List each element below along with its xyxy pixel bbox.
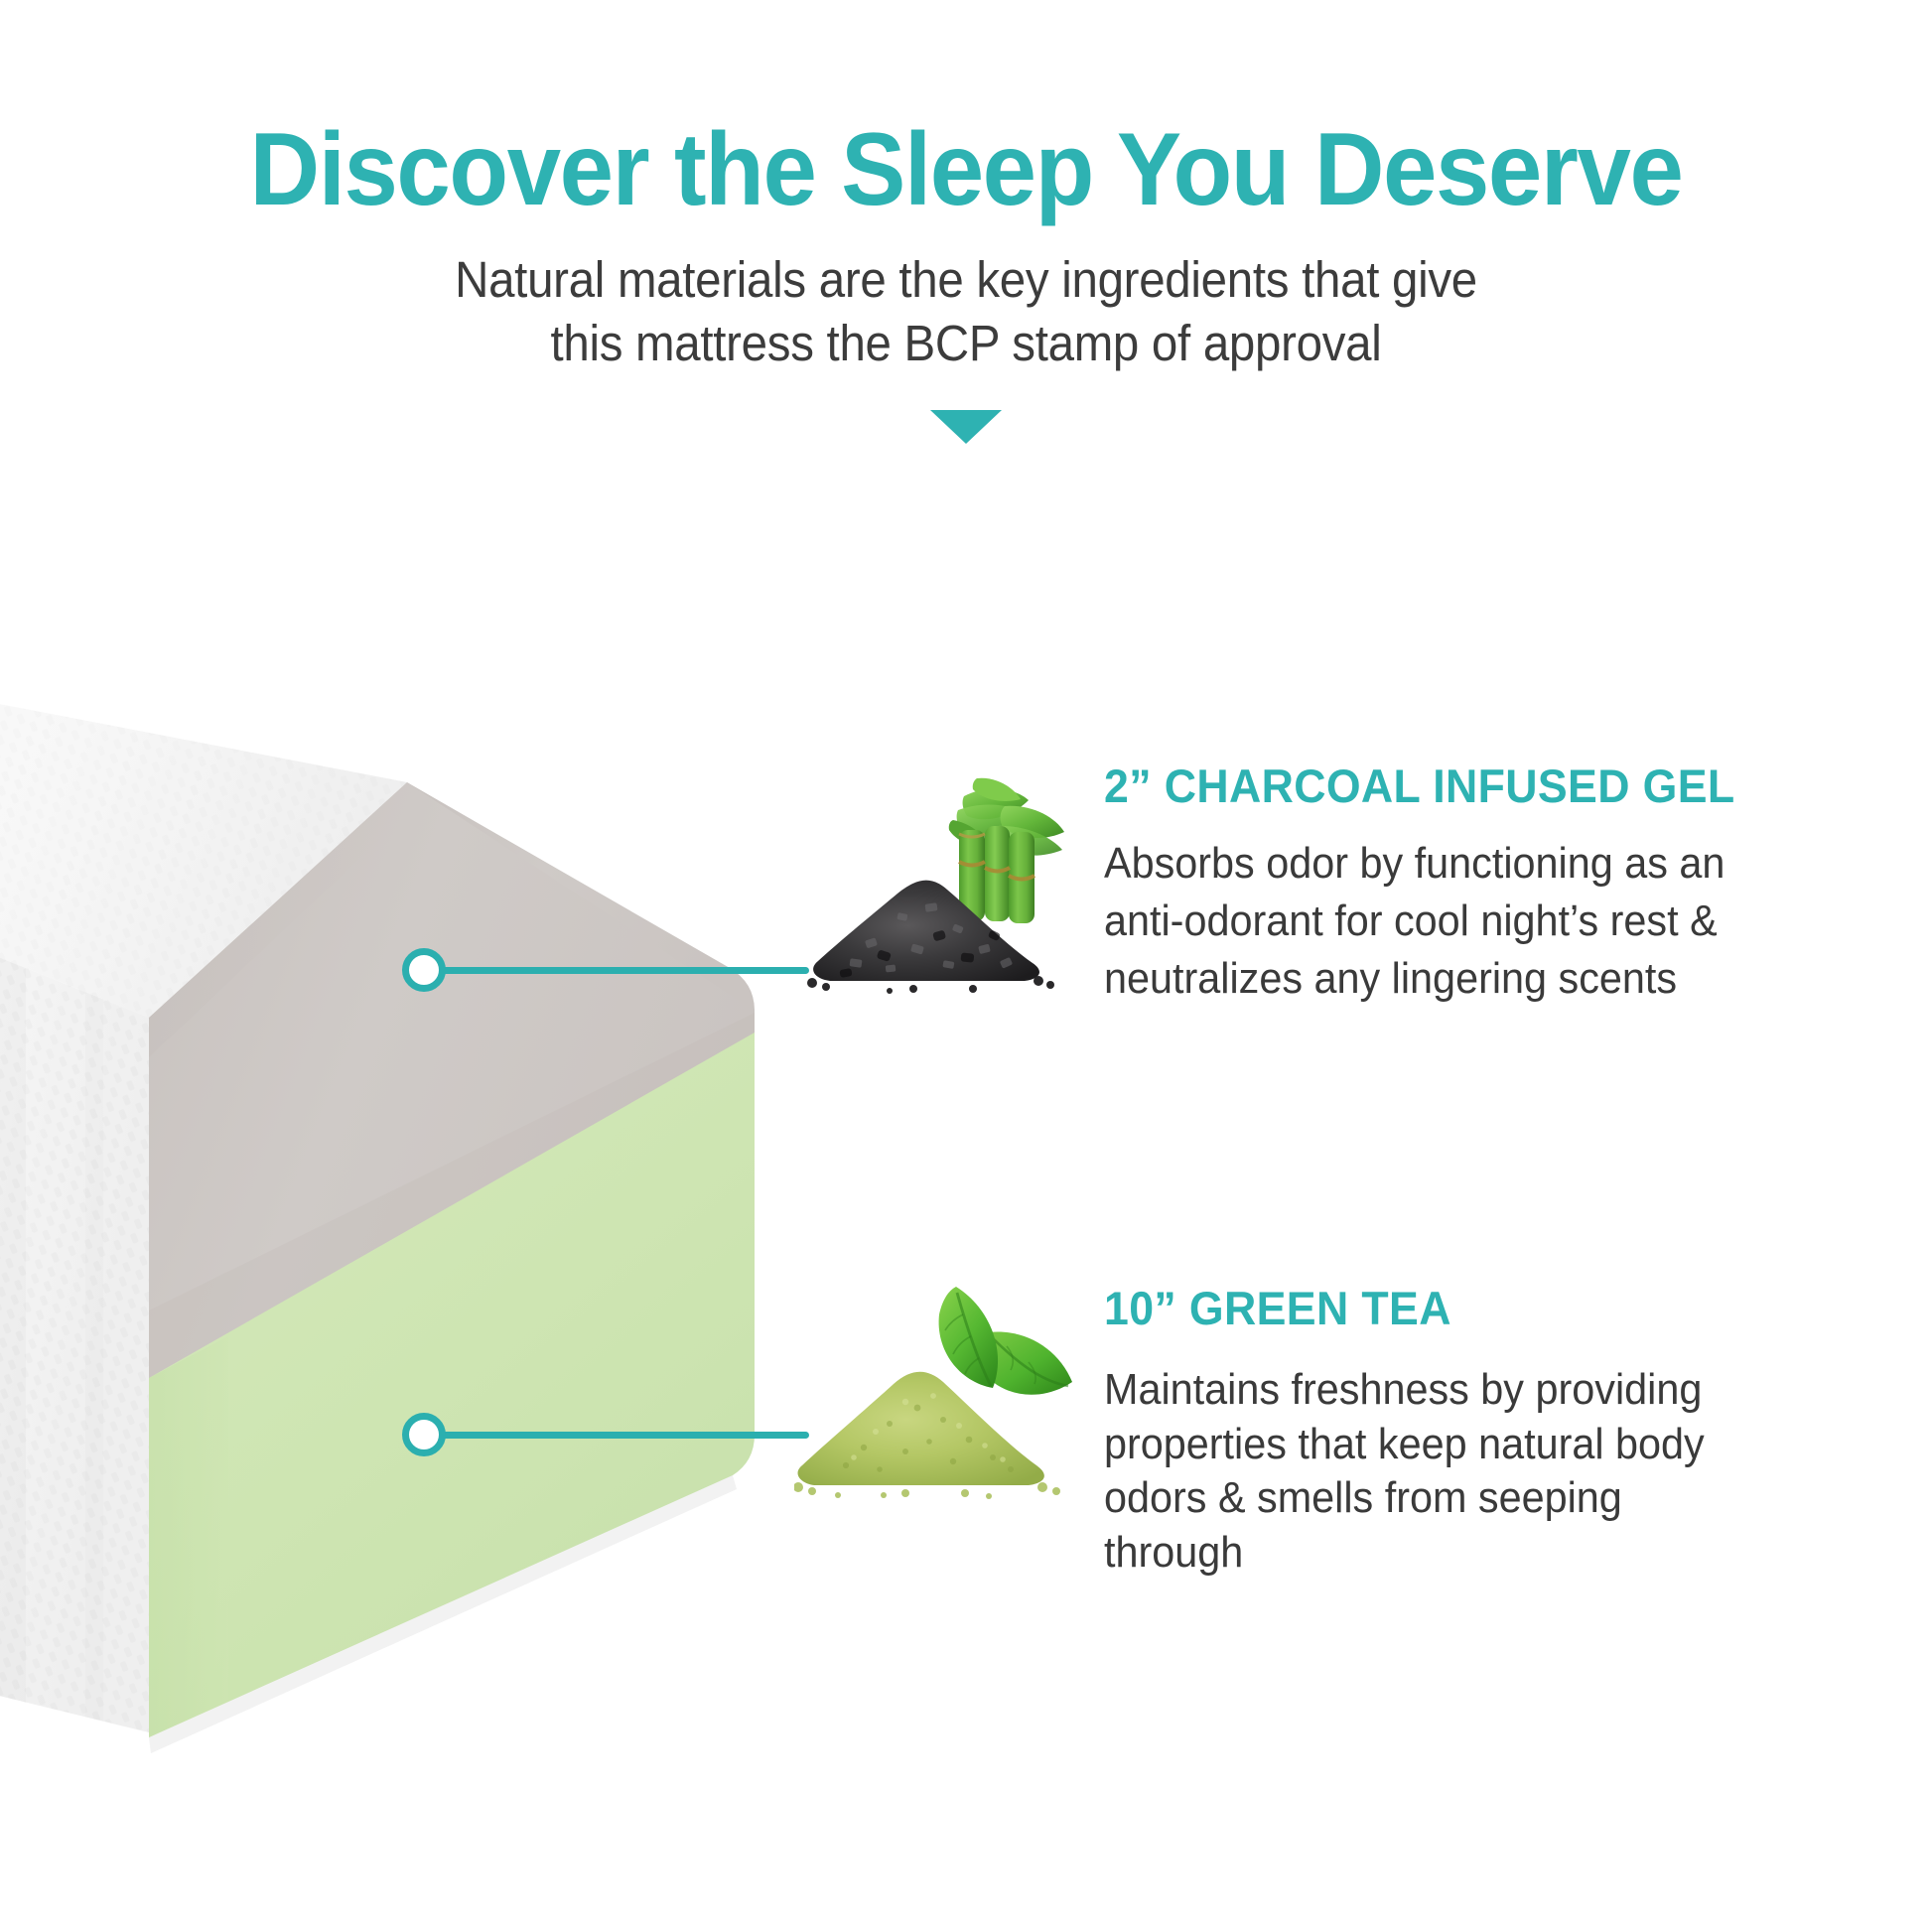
callout-connector-line-charcoal (437, 967, 809, 974)
feature-greentea: 10” GREEN TEA Maintains freshness by pro… (794, 1271, 1906, 1580)
feature-charcoal: 2” CHARCOAL INFUSED GEL Absorbs odor by … (794, 755, 1906, 1023)
callout-marker-charcoal[interactable] (402, 948, 446, 992)
chevron-down-triangle-icon (930, 410, 1002, 444)
green-tea-powder-leaf-icon (794, 1271, 1092, 1519)
charcoal-bamboo-icon (794, 755, 1092, 1023)
feature-charcoal-body: Absorbs odor by functioning as an anti-o… (1104, 835, 1813, 1008)
tea-leaf-left (939, 1287, 998, 1388)
bamboo-stalks (959, 826, 1035, 923)
feature-charcoal-text: 2” CHARCOAL INFUSED GEL Absorbs odor by … (1092, 755, 1859, 1008)
feature-greentea-heading: 10” GREEN TEA (1104, 1281, 1764, 1335)
feature-greentea-body: Maintains freshness by providing propert… (1104, 1363, 1757, 1580)
feature-charcoal-heading: 2” CHARCOAL INFUSED GEL (1104, 759, 1821, 813)
feature-greentea-text: 10” GREEN TEA Maintains freshness by pro… (1092, 1271, 1799, 1580)
cutaway-mattress-illustration (0, 516, 814, 1807)
callout-connector-line-greentea (437, 1432, 809, 1439)
page-title: Discover the Sleep You Deserve (58, 0, 1873, 222)
page-subtitle: Natural materials are the key ingredient… (421, 222, 1510, 376)
callout-marker-greentea[interactable] (402, 1413, 446, 1456)
header: Discover the Sleep You Deserve Natural m… (0, 0, 1932, 444)
